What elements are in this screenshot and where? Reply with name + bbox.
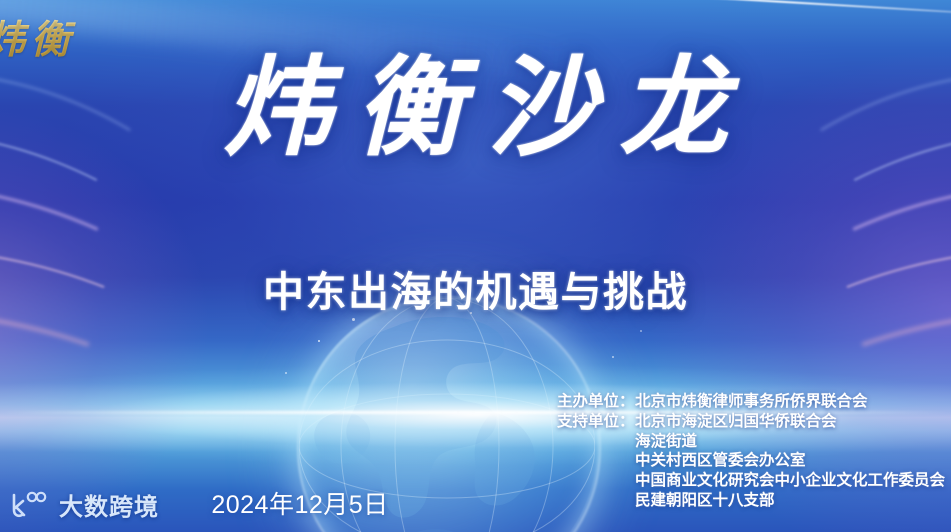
- support-value: 中国商业文化研究会中小企业文化工作委员会: [635, 471, 949, 491]
- sparkle-icon: [612, 356, 614, 358]
- support-value: 中关村西区管委会办公室: [635, 451, 949, 471]
- host-label: 主办单位：: [557, 392, 635, 412]
- watermark-logo: 大数跨境: [8, 487, 159, 522]
- support-value: 海淀街道: [635, 432, 949, 452]
- organizer-row-support: 支持单位： 中关村西区管委会办公室: [557, 451, 949, 471]
- sparkle-icon: [352, 318, 355, 321]
- sparkle-icon: [640, 330, 642, 332]
- organizer-row-support: 支持单位： 北京市海淀区归国华侨联合会: [557, 412, 949, 432]
- organizer-row-host: 主办单位： 北京市炜衡律师事务所侨界联合会: [557, 392, 949, 412]
- organizer-row-support: 支持单位： 民建朝阳区十八支部: [557, 491, 949, 511]
- page-subtitle: 中东出海的机遇与挑战: [0, 266, 951, 318]
- watermark-text: 大数跨境: [59, 487, 159, 522]
- presentation-slide: 炜衡 炜衡沙龙 中东出海的机遇与挑战 主办单位： 北京市炜衡律师事务所侨界联合会…: [0, 0, 951, 532]
- page-title: 炜衡沙龙: [0, 44, 951, 176]
- organizer-row-support: 支持单位： 中国商业文化研究会中小企业文化工作委员会: [557, 471, 949, 491]
- k-infinity-icon: [8, 489, 50, 521]
- support-value: 北京市海淀区归国华侨联合会: [635, 412, 949, 432]
- organizer-row-support: 支持单位： 海淀街道: [557, 432, 949, 452]
- host-value: 北京市炜衡律师事务所侨界联合会: [635, 392, 949, 412]
- organizer-list: 主办单位： 北京市炜衡律师事务所侨界联合会 支持单位： 北京市海淀区归国华侨联合…: [557, 392, 949, 511]
- support-label: 支持单位：: [557, 412, 635, 432]
- sparkle-icon: [318, 340, 320, 342]
- support-value: 民建朝阳区十八支部: [635, 491, 949, 511]
- sparkle-icon: [285, 372, 287, 374]
